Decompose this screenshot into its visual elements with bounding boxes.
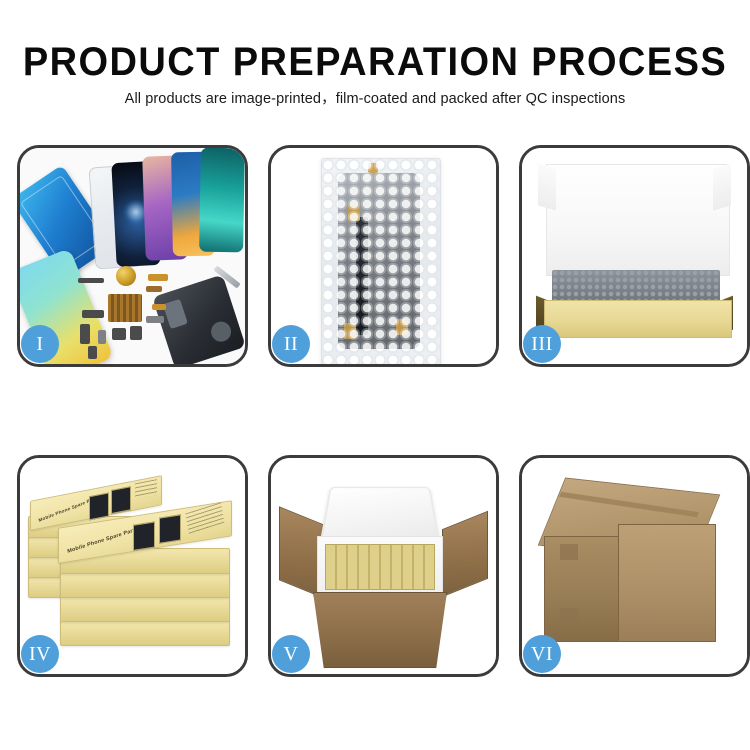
part-bracket	[98, 330, 106, 344]
box-label-screen-img-f2	[159, 514, 181, 543]
carton-tape-top	[560, 544, 578, 560]
grey-foam-padding	[552, 270, 720, 304]
carton-right-face	[618, 524, 716, 642]
step-panel-1: I	[17, 145, 248, 367]
part-camera-module	[112, 328, 126, 340]
badge-step-6: VI	[523, 635, 561, 673]
part-antenna	[146, 316, 164, 323]
stack-box-f3	[60, 572, 230, 598]
box-stack: Mobile Phone Spare Parts Mobile Phone Sp…	[26, 472, 242, 668]
part-connector-2	[82, 310, 104, 318]
box-label-screen-img-b2	[111, 486, 131, 514]
bubble-texture-overlay	[322, 159, 440, 364]
carton-flap-right	[442, 511, 488, 598]
phone-back-housing	[152, 274, 245, 364]
carton-left-face	[544, 536, 620, 642]
part-gold-contact	[152, 304, 166, 310]
box-lid-flap-right	[713, 163, 731, 210]
box-label-screen-img-b1	[89, 492, 109, 520]
badge-step-2: II	[272, 325, 310, 363]
carton-tape-bottom	[560, 608, 578, 624]
badge-step-5: V	[272, 635, 310, 673]
step-panel-6: VI	[519, 455, 750, 677]
part-flex-cable	[80, 324, 90, 344]
logic-board-chip	[108, 294, 142, 322]
phone-display-teal	[199, 148, 245, 252]
badge-step-4: IV	[21, 635, 59, 673]
page-title: PRODUCT PREPARATION PROCESS	[19, 40, 732, 84]
step-panel-2: II	[268, 145, 499, 367]
box-lid-flap-left	[538, 163, 556, 210]
speaker-component-icon	[116, 266, 136, 286]
step-panel-5: V	[268, 455, 499, 677]
bubble-wrap-bag	[321, 158, 441, 364]
part-copper-strip	[146, 286, 162, 292]
process-steps-grid: I II	[17, 145, 733, 677]
badge-step-3: III	[523, 325, 561, 363]
box-label-screen-img-f1	[133, 521, 155, 550]
stack-box-f5	[60, 620, 230, 646]
badge-step-1: I	[21, 325, 59, 363]
box-front-yellow	[544, 300, 732, 338]
step-panel-4: Mobile Phone Spare Parts Mobile Phone Sp…	[17, 455, 248, 677]
step-panel-3: III	[519, 145, 750, 367]
stack-box-f4	[60, 596, 230, 622]
part-sim-tray	[88, 346, 97, 359]
part-gold-flex	[148, 274, 168, 281]
packed-yellow-boxes	[325, 544, 435, 590]
product-preparation-infographic: PRODUCT PREPARATION PROCESS All products…	[0, 0, 750, 750]
part-vibrator	[130, 326, 142, 340]
part-connector-1	[78, 278, 104, 283]
page-subtitle: All products are image-printed，film-coat…	[0, 90, 750, 108]
box-lid-white	[546, 164, 730, 276]
carton-front-panel	[313, 592, 447, 668]
